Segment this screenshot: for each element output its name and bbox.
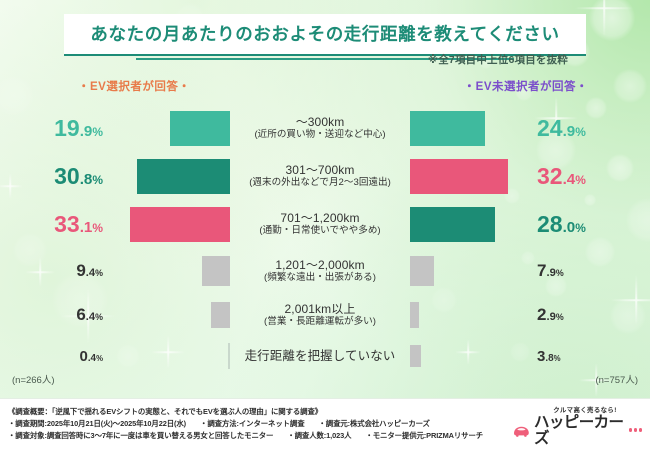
right-bar-cell	[410, 256, 530, 286]
left-bar-cell	[110, 111, 230, 146]
right-bar-cell	[410, 345, 530, 367]
survey-details: 《調査概要：「逆風下で揺れるEVシフトの実態と、それでもEVを選ぶ人の理由」に関…	[8, 406, 483, 442]
right-bar-cell	[410, 302, 530, 328]
chart-row: 0.4%走行距離を把握していない3.8%	[0, 336, 650, 376]
infographic-canvas: あなたの月あたりのおおよその走行距離を教えてください ※全7項目中上位6項目を抜…	[0, 0, 650, 450]
survey-source: ・調査元:株式会社ハッピーカーズ	[318, 419, 429, 428]
logo-name: ハッピーカーズ	[534, 415, 626, 446]
right-bar-cell	[410, 207, 530, 242]
survey-overview-line: 《調査概要：「逆風下で揺れるEVシフトの実態と、それでもEVを選ぶ人の理由」に関…	[8, 406, 483, 418]
right-value-label: 24.9%	[530, 115, 640, 142]
chart-row: 19.9%〜300km(近所の買い物・送迎など中心)24.9%	[0, 104, 650, 152]
right-bar	[410, 256, 434, 286]
category-label-sub: (頻繁な遠出・出張がある)	[230, 272, 410, 283]
legend-left-label: ・EV選択者が回答・	[78, 78, 190, 94]
left-value-label: 0.4%	[0, 348, 110, 365]
sample-size-right: (n=757人)	[595, 372, 638, 386]
chart-row: 30.8%301〜700km(週末の外出などで月2〜3回遠出)32.4%	[0, 152, 650, 200]
left-bar-cell	[110, 302, 230, 328]
right-value-label: 28.0%	[530, 211, 640, 238]
right-bar	[410, 302, 419, 328]
sample-size-left: (n=266人)	[12, 372, 55, 386]
chart-row: 9.4%1,201〜2,000km(頻繁な遠出・出張がある)7.9%	[0, 248, 650, 294]
left-bar-cell	[110, 207, 230, 242]
right-bar	[410, 207, 495, 242]
footer-bar: 《調査概要：「逆風下で揺れるEVシフトの実態と、それでもEVを選ぶ人の理由」に関…	[0, 398, 650, 450]
category-label-main: 走行距離を把握していない	[230, 349, 410, 364]
left-value-label: 9.4%	[0, 261, 110, 281]
monitor-provider: ・モニター提供元:PRIZMAリサーチ	[365, 431, 483, 440]
right-value-label: 7.9%	[530, 261, 640, 281]
category-label: 〜300km(近所の買い物・送迎など中心)	[230, 115, 410, 140]
right-bar	[410, 111, 485, 146]
chart-row: 33.1%701〜1,200km(通勤・日常使いでやや多め)28.0%	[0, 200, 650, 248]
left-bar	[211, 302, 230, 328]
category-label-main: 〜300km	[230, 115, 410, 129]
row-divider	[228, 343, 229, 369]
category-label: 走行距離を把握していない	[230, 349, 410, 364]
category-label-main: 1,201〜2,000km	[230, 258, 410, 272]
left-bar-cell	[110, 256, 230, 286]
right-bar-cell	[410, 111, 530, 146]
car-icon	[512, 424, 531, 437]
survey-target-line: ・調査対象:調査回答時に3〜7年に一度は車を買い替える男女と回答したモニター・調…	[8, 430, 483, 442]
happycars-logo[interactable]: クルマ高く売るなら! ハッピーカーズ	[512, 405, 642, 445]
category-label-sub: (通勤・日常使いでやや多め)	[230, 225, 410, 236]
category-label-sub: (週末の外出などで月2〜3回遠出)	[230, 177, 410, 188]
survey-method: ・調査方法:インターネット調査	[200, 419, 304, 428]
category-label: 301〜700km(週末の外出などで月2〜3回遠出)	[230, 163, 410, 188]
left-value-label: 19.9%	[0, 115, 110, 142]
category-label-main: 701〜1,200km	[230, 211, 410, 225]
left-bar	[137, 159, 230, 194]
right-bar	[410, 345, 421, 367]
left-value-label: 33.1%	[0, 211, 110, 238]
right-bar	[410, 159, 508, 194]
category-label-sub: (近所の買い物・送迎など中心)	[230, 129, 410, 140]
right-value-label: 3.8%	[530, 348, 640, 365]
left-value-label: 6.4%	[0, 305, 110, 325]
survey-target: ・調査対象:調査回答時に3〜7年に一度は車を買い替える男女と回答したモニター	[8, 431, 273, 440]
right-bar-cell	[410, 159, 530, 194]
chart-row: 6.4%2,001km以上(営業・長距離運転が多い)2.9%	[0, 294, 650, 336]
logo-tagline: クルマ高く売るなら!	[528, 405, 642, 414]
category-label-main: 301〜700km	[230, 163, 410, 177]
right-value-label: 32.4%	[530, 163, 640, 190]
category-label-sub: (営業・長距離運転が多い)	[230, 316, 410, 327]
left-bar-cell	[110, 343, 230, 369]
left-bar	[170, 111, 230, 146]
category-label-main: 2,001km以上	[230, 302, 410, 316]
chart-note: ※全7項目中上位6項目を抜粋	[428, 52, 568, 67]
survey-count: ・調査人数:1,023人	[287, 431, 351, 440]
legend-right-label: ・EV未選択者が回答・	[464, 78, 588, 94]
left-bar	[202, 256, 230, 286]
left-bar-cell	[110, 159, 230, 194]
logo-dots-icon	[629, 428, 643, 433]
left-value-label: 30.8%	[0, 163, 110, 190]
right-value-label: 2.9%	[530, 305, 640, 325]
bidirectional-bar-chart: 19.9%〜300km(近所の買い物・送迎など中心)24.9%30.8%301〜…	[0, 104, 650, 376]
left-bar	[130, 207, 230, 242]
survey-period: ・調査期間:2025年10月21日(火)〜2025年10月22日(水)	[8, 419, 186, 428]
category-label: 2,001km以上(営業・長距離運転が多い)	[230, 302, 410, 327]
category-label: 701〜1,200km(通勤・日常使いでやや多め)	[230, 211, 410, 236]
page-title: あなたの月あたりのおおよその走行距離を教えてください	[64, 14, 585, 56]
survey-period-line: ・調査期間:2025年10月21日(火)〜2025年10月22日(水)・調査方法…	[8, 418, 483, 430]
category-label: 1,201〜2,000km(頻繁な遠出・出張がある)	[230, 258, 410, 283]
